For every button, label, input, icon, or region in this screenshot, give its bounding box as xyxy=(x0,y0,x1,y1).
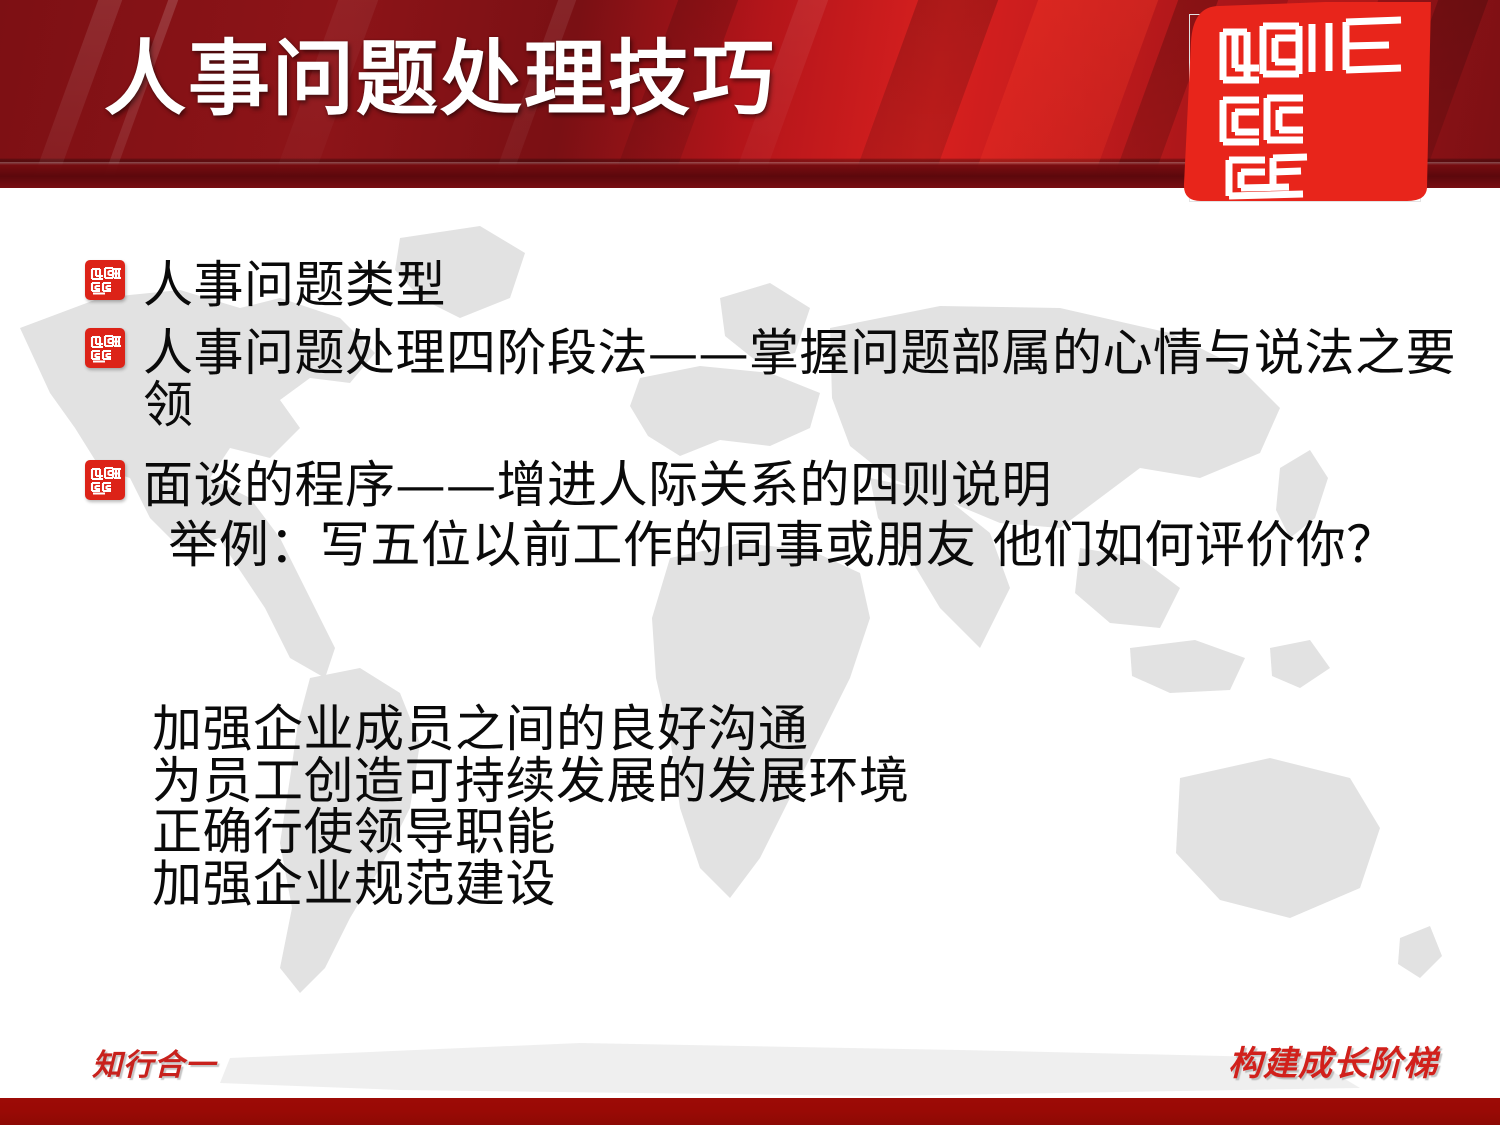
mic-logo-bullet-icon xyxy=(85,328,125,368)
page-title: 人事问题处理技巧 xyxy=(104,38,776,120)
closing-list: 加强企业成员之间的良好沟通 为员工创造可持续发展的发展环境 正确行使领导职能 加… xyxy=(152,704,1452,910)
closing-line: 加强企业成员之间的良好沟通 xyxy=(152,704,1452,756)
bullet-item-3: 面谈的程序——增进人际关系的四则说明 xyxy=(85,460,1483,512)
closing-line: 正确行使领导职能 xyxy=(152,807,1452,859)
header-streak xyxy=(940,0,1180,188)
bullet-text: 人事问题类型 xyxy=(143,260,1473,312)
header-streak xyxy=(820,0,1020,188)
example-text: 举例：写五位以前工作的同事或朋友 他们如何评价你？ xyxy=(152,520,1452,572)
mic-logo-bullet-icon xyxy=(85,260,125,300)
footer-slogan-left: 知行合一 xyxy=(92,1040,216,1084)
closing-line: 加强企业规范建设 xyxy=(152,859,1452,911)
footer-slogan-right: 构建成长阶梯 xyxy=(1228,1036,1438,1085)
slide-canvas: 人事问题处理技巧 xyxy=(0,0,1500,1125)
bullet-text: 人事问题处理四阶段法——掌握问题部属的心情与说法之要领 xyxy=(143,328,1473,431)
mic-logo-bullet-icon xyxy=(85,460,125,500)
slide-body: 人事问题类型 人事问题处理四阶段法——掌握问题部属的心情与说法之要领 xyxy=(0,188,1500,1018)
bullet-text: 面谈的程序——增进人际关系的四则说明 xyxy=(143,460,1483,512)
footer-bar xyxy=(0,1098,1500,1125)
bullet-item-1: 人事问题类型 xyxy=(85,260,1473,312)
bullet-item-2: 人事问题处理四阶段法——掌握问题部属的心情与说法之要领 xyxy=(85,328,1473,431)
mic-maze-logo xyxy=(1179,2,1431,207)
closing-line: 为员工创造可持续发展的发展环境 xyxy=(152,756,1452,808)
